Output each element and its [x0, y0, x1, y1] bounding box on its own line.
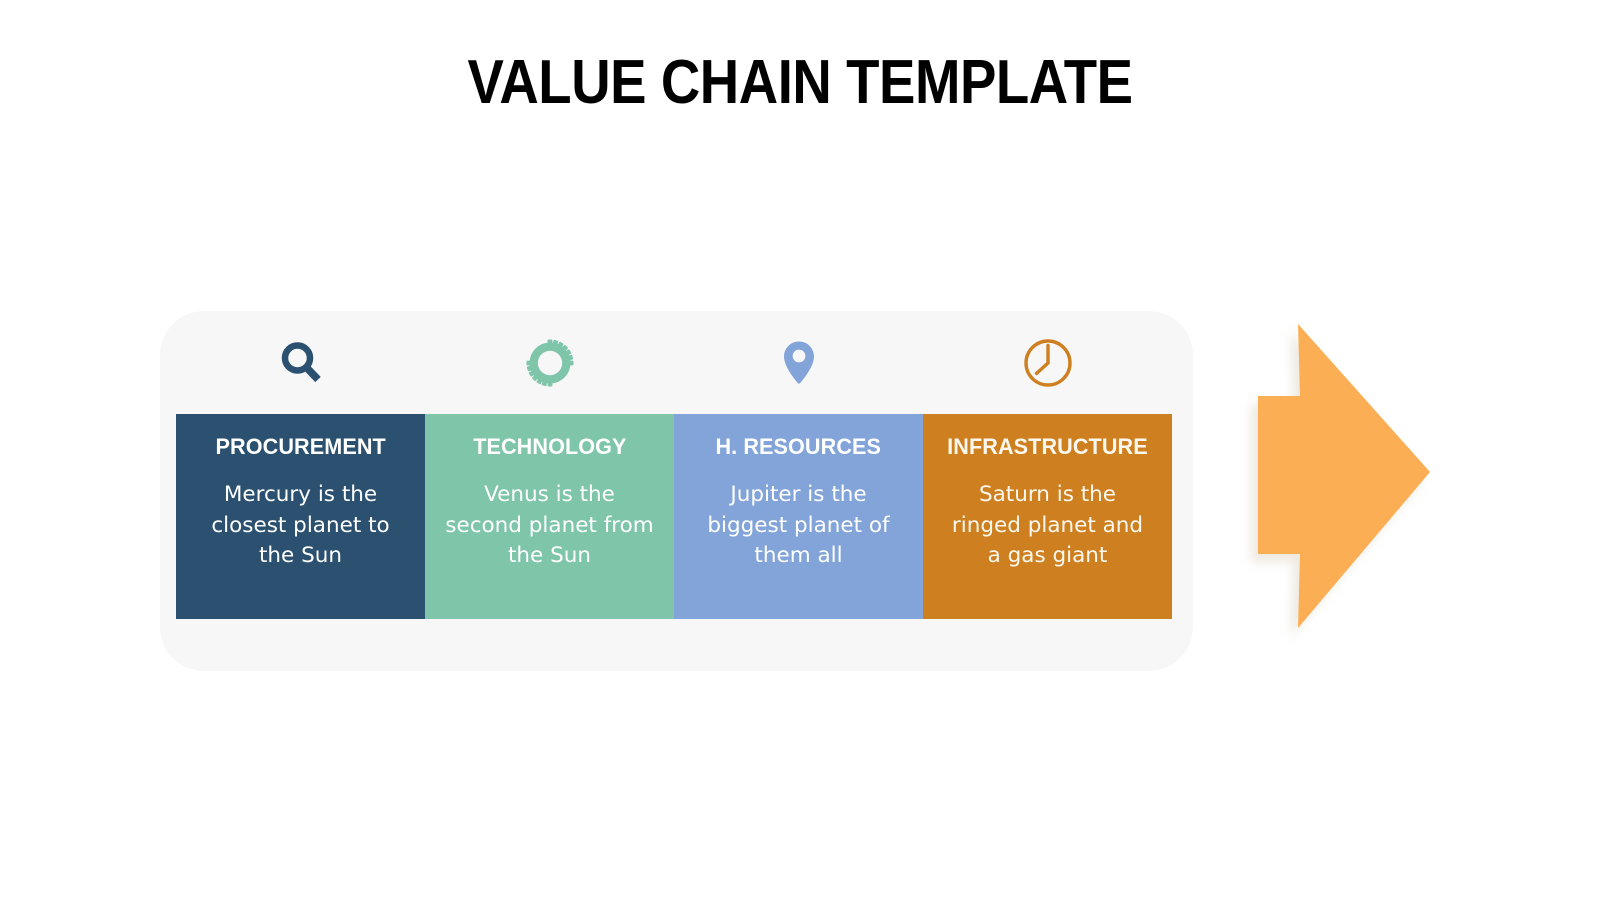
column-body: Jupiter is the biggest planet of them al… [694, 480, 904, 572]
column-heading: INFRASTRUCTURE [947, 434, 1148, 460]
column-heading: TECHNOLOGY [473, 434, 626, 460]
gear-icon [522, 335, 578, 391]
icon-cell-infrastructure [923, 311, 1172, 414]
value-chain-card: PROCUREMENT Mercury is the closest plane… [160, 311, 1193, 671]
value-chain-columns: PROCUREMENT Mercury is the closest plane… [176, 414, 1172, 619]
page-title: VALUE CHAIN TEMPLATE [96, 52, 1504, 114]
column-heading: H. RESOURCES [716, 434, 882, 460]
column-technology[interactable]: TECHNOLOGY Venus is the second planet fr… [425, 414, 674, 619]
column-body: Mercury is the closest planet to the Sun [196, 480, 406, 572]
column-body: Saturn is the ringed planet and a gas gi… [943, 480, 1153, 572]
clock-icon [1020, 335, 1076, 391]
column-heading: PROCUREMENT [215, 434, 385, 460]
column-procurement[interactable]: PROCUREMENT Mercury is the closest plane… [176, 414, 425, 619]
right-arrow-shape[interactable] [1240, 306, 1450, 646]
column-body: Venus is the second planet from the Sun [445, 480, 655, 572]
column-infrastructure[interactable]: INFRASTRUCTURE Saturn is the ringed plan… [923, 414, 1172, 619]
column-h-resources[interactable]: H. RESOURCES Jupiter is the biggest plan… [674, 414, 923, 619]
icon-row [176, 311, 1172, 414]
search-icon [273, 335, 329, 391]
icon-cell-h-resources [674, 311, 923, 414]
icon-cell-procurement [176, 311, 425, 414]
icon-cell-technology [425, 311, 674, 414]
map-pin-icon [771, 335, 827, 391]
